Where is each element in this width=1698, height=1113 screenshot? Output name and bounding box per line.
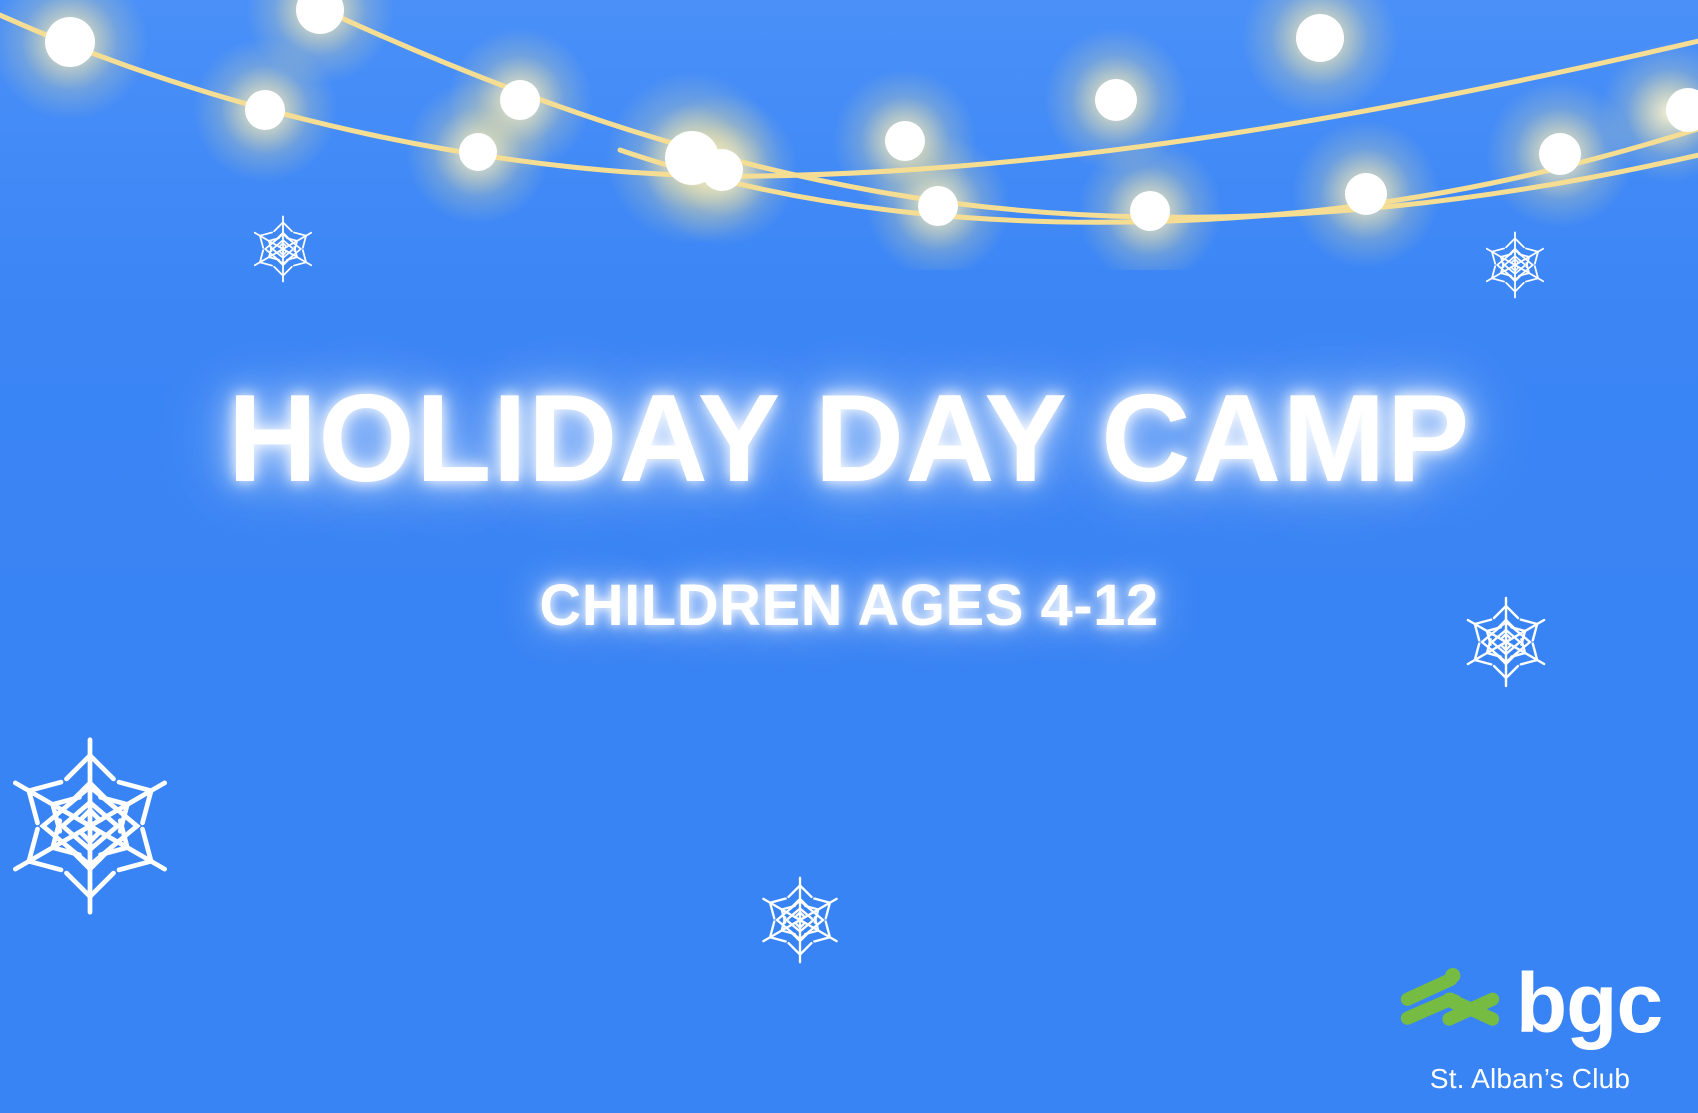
headline-block: HOLIDAY DAY CAMP CHILDREN AGES 4-12 bbox=[0, 375, 1698, 639]
string-lights-decoration bbox=[0, 0, 1698, 270]
bgc-logo: bgc St. Alban’s Club bbox=[1396, 955, 1664, 1095]
snowflake-bottom-left-icon bbox=[0, 728, 188, 924]
snowflake-bottom-center-icon bbox=[752, 872, 848, 968]
bulb-glow-group bbox=[0, 0, 1698, 270]
logo-mark-row: bgc bbox=[1396, 955, 1664, 1051]
bgc-people-mark-icon bbox=[1398, 968, 1502, 1038]
snowflake-top-right-icon bbox=[1478, 228, 1552, 302]
page-subtitle: CHILDREN AGES 4-12 bbox=[0, 572, 1698, 639]
light-wire-group bbox=[0, 0, 1698, 222]
bgc-wordmark: bgc bbox=[1516, 969, 1662, 1038]
bgc-club-name: St. Alban’s Club bbox=[1396, 1063, 1664, 1095]
light-bulb-group bbox=[45, 0, 1698, 231]
page-title: HOLIDAY DAY CAMP bbox=[0, 375, 1698, 504]
snowflake-top-left-icon bbox=[246, 212, 320, 286]
holiday-day-camp-poster: HOLIDAY DAY CAMP CHILDREN AGES 4-12 bgc bbox=[0, 0, 1698, 1113]
